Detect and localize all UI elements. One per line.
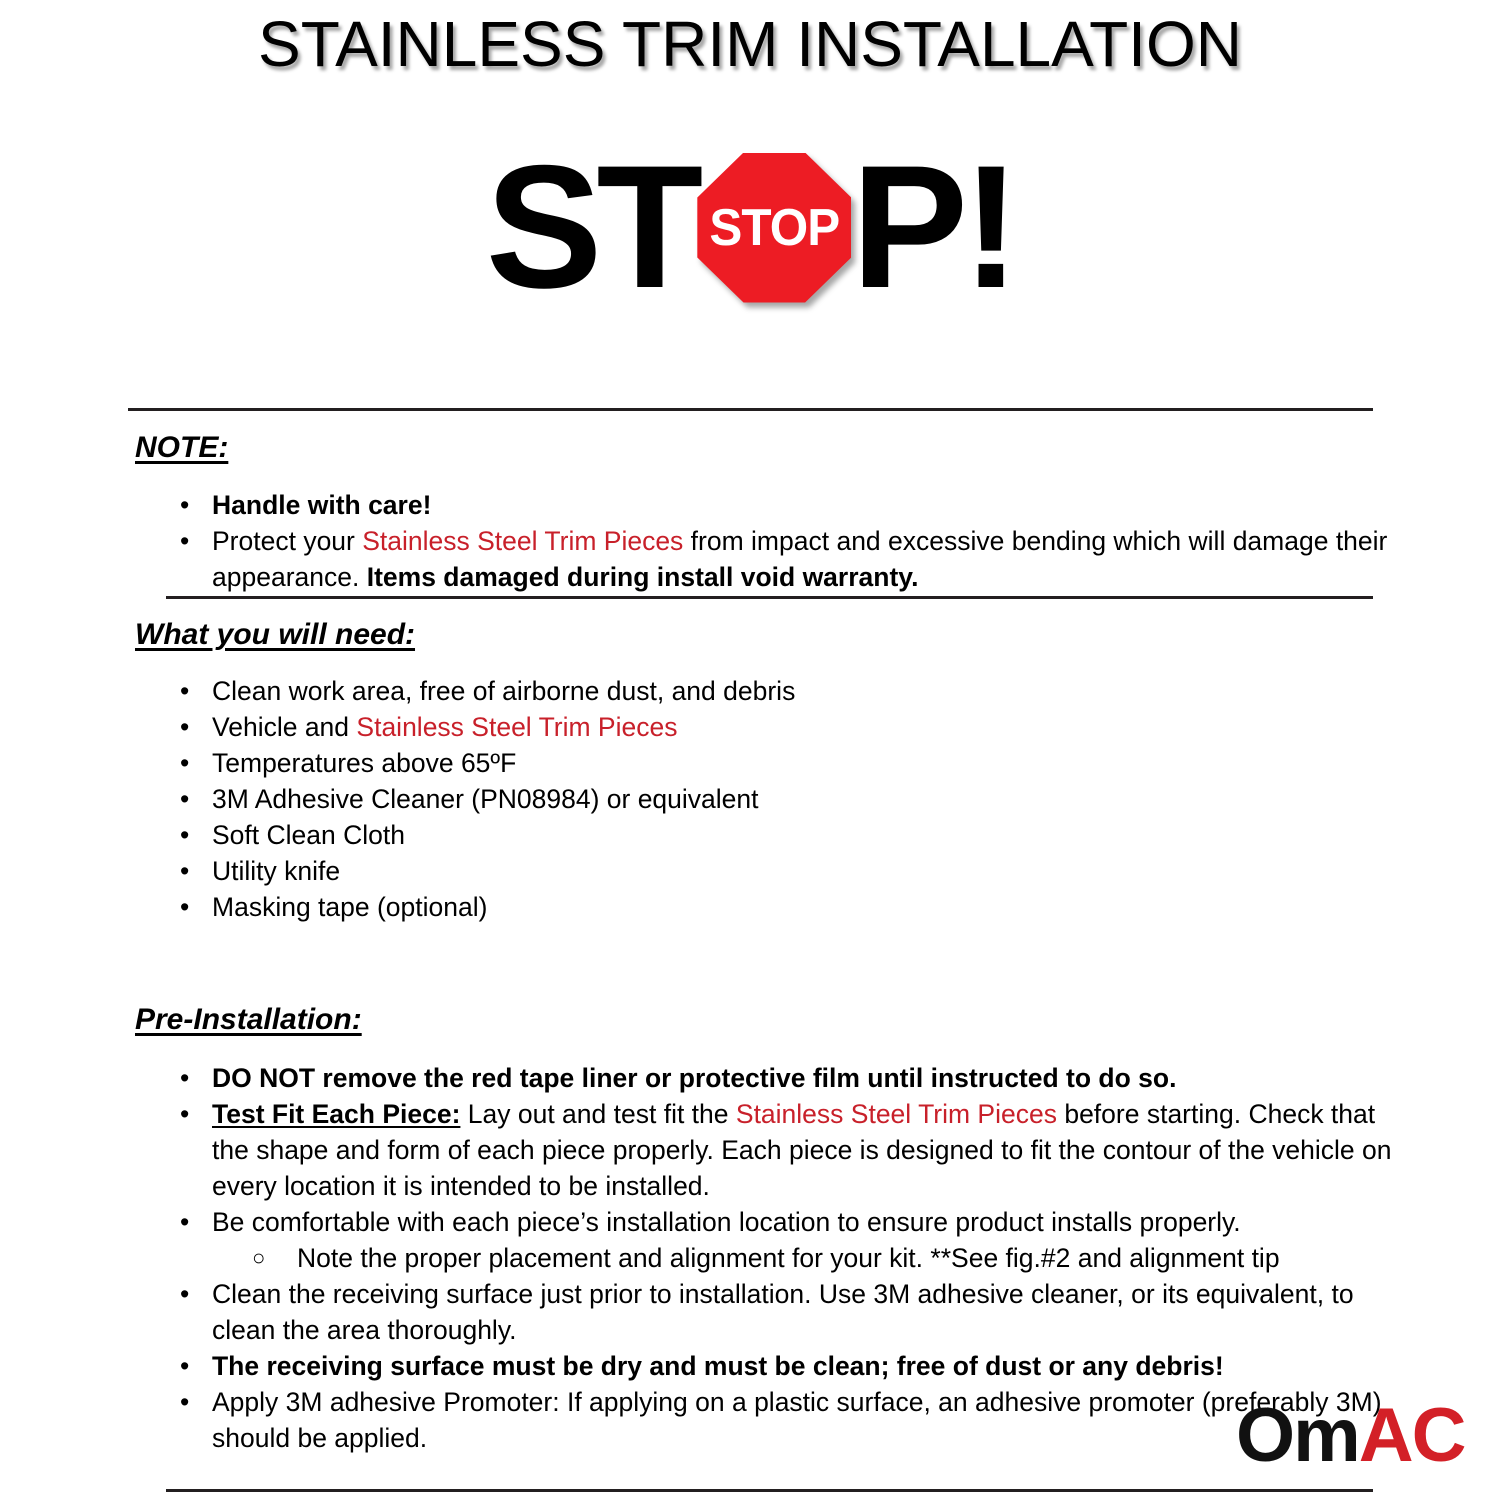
list-item-text: DO NOT remove the red tape liner or prot… <box>212 1063 1176 1093</box>
bullet-icon: • <box>180 853 189 889</box>
list-item-text: Vehicle and Stainless Steel Trim Pieces <box>212 712 677 742</box>
body-text: Masking tape (optional) <box>212 892 487 922</box>
body-text: Clean work area, free of airborne dust, … <box>212 676 795 706</box>
list-item: •Apply 3M adhesive Promoter: If applying… <box>0 1384 1400 1456</box>
list-item: •Handle with care! <box>0 487 1400 523</box>
bullet-icon: • <box>180 709 189 745</box>
bullet-icon: • <box>180 745 189 781</box>
stop-logo-left-letters: ST <box>486 148 698 308</box>
list-item-text: Apply 3M adhesive Promoter: If applying … <box>212 1387 1382 1453</box>
list-item: •Vehicle and Stainless Steel Trim Pieces <box>0 709 1400 745</box>
list-item: •Clean work area, free of airborne dust,… <box>0 673 1400 709</box>
body-text: Soft Clean Cloth <box>212 820 405 850</box>
pre-installation-list: •DO NOT remove the red tape liner or pro… <box>0 1060 1400 1456</box>
list-item: •3M Adhesive Cleaner (PN08984) or equiva… <box>0 781 1400 817</box>
list-item: •Be comfortable with each piece’s instal… <box>0 1204 1400 1240</box>
bullet-icon: • <box>180 673 189 709</box>
list-item-text: Utility knife <box>212 856 340 886</box>
list-item-text: Clean work area, free of airborne dust, … <box>212 676 795 706</box>
stop-sign-icon: STOP <box>691 148 857 308</box>
section-heading-pre-installation: Pre-Installation: <box>135 1003 362 1037</box>
list-item-text: Temperatures above 65ºF <box>212 748 516 778</box>
stop-banner: ST STOP P! <box>0 130 1500 325</box>
list-item-text: Be comfortable with each piece’s install… <box>212 1207 1241 1237</box>
list-item: •Masking tape (optional) <box>0 889 1400 925</box>
hollow-bullet-icon: ○ <box>252 1240 265 1276</box>
octagon-shape: STOP <box>697 153 851 303</box>
list-item-text: The receiving surface must be dry and mu… <box>212 1351 1224 1381</box>
list-item: •Test Fit Each Piece: Lay out and test f… <box>0 1096 1400 1204</box>
bullet-icon: • <box>180 1384 189 1420</box>
bullet-icon: • <box>180 1204 189 1240</box>
list-item-text: Handle with care! <box>212 490 431 520</box>
bullet-icon: • <box>180 1096 189 1132</box>
list-item-text: Soft Clean Cloth <box>212 820 405 850</box>
divider-bottom <box>166 1489 1373 1492</box>
stop-logo: ST STOP P! <box>486 140 1015 315</box>
body-text: Vehicle and <box>212 712 356 742</box>
stop-sign-label: STOP <box>709 202 839 254</box>
list-item-text: Clean the receiving surface just prior t… <box>212 1279 1354 1345</box>
omac-logo-dark-part: Om <box>1236 1393 1359 1478</box>
section-heading-what-you-will-need: What you will need: <box>135 618 415 652</box>
stop-logo-right-letters: P! <box>851 148 1014 308</box>
list-item: •Soft Clean Cloth <box>0 817 1400 853</box>
body-text: Lay out and test fit the <box>460 1099 735 1129</box>
emphasis-text: Handle with care! <box>212 490 431 520</box>
divider-middle <box>166 596 1373 599</box>
requirements-list: •Clean work area, free of airborne dust,… <box>0 673 1400 925</box>
emphasis-text: DO NOT remove the red tape liner or prot… <box>212 1063 1176 1093</box>
list-item: •Temperatures above 65ºF <box>0 745 1400 781</box>
list-item: •DO NOT remove the red tape liner or pro… <box>0 1060 1400 1096</box>
bullet-icon: • <box>180 817 189 853</box>
list-item-text: Protect your Stainless Steel Trim Pieces… <box>212 526 1387 592</box>
note-list: •Handle with care!•Protect your Stainles… <box>0 487 1400 595</box>
bullet-icon: • <box>180 487 189 523</box>
body-text: 3M Adhesive Cleaner (PN08984) or equival… <box>212 784 759 814</box>
body-text: Apply 3M adhesive Promoter: If applying … <box>212 1387 1382 1453</box>
body-text: Note the proper placement and alignment … <box>297 1243 1280 1273</box>
list-item-text: Masking tape (optional) <box>212 892 487 922</box>
list-item: ○Note the proper placement and alignment… <box>0 1240 1400 1276</box>
emphasis-text: Items damaged during install void warran… <box>367 562 919 592</box>
page-title: STAINLESS TRIM INSTALLATION <box>0 0 1500 76</box>
bullet-icon: • <box>180 1060 189 1096</box>
bullet-icon: • <box>180 1348 189 1384</box>
body-text: Utility knife <box>212 856 340 886</box>
list-item-text: Test Fit Each Piece: Lay out and test fi… <box>212 1099 1392 1201</box>
emphasis-text: The receiving surface must be dry and mu… <box>212 1351 1224 1381</box>
omac-brand-logo: OmAC <box>1236 1398 1464 1474</box>
body-text: Protect your <box>212 526 362 556</box>
list-item-text: Note the proper placement and alignment … <box>297 1243 1280 1273</box>
highlighted-term: Stainless Steel Trim Pieces <box>736 1099 1057 1129</box>
emphasis-text: Test Fit Each Piece: <box>212 1099 460 1129</box>
section-heading-note: NOTE: <box>135 431 228 465</box>
highlighted-term: Stainless Steel Trim Pieces <box>362 526 683 556</box>
list-item-text: 3M Adhesive Cleaner (PN08984) or equival… <box>212 784 759 814</box>
bullet-icon: • <box>180 1276 189 1312</box>
bullet-icon: • <box>180 781 189 817</box>
list-item: •The receiving surface must be dry and m… <box>0 1348 1400 1384</box>
divider-top <box>128 408 1373 411</box>
bullet-icon: • <box>180 523 189 559</box>
bullet-icon: • <box>180 889 189 925</box>
list-item: •Clean the receiving surface just prior … <box>0 1276 1400 1348</box>
omac-logo-accent-part: AC <box>1359 1393 1465 1478</box>
body-text: Temperatures above 65ºF <box>212 748 516 778</box>
body-text: Clean the receiving surface just prior t… <box>212 1279 1354 1345</box>
list-item: •Utility knife <box>0 853 1400 889</box>
list-item: •Protect your Stainless Steel Trim Piece… <box>0 523 1400 595</box>
highlighted-term: Stainless Steel Trim Pieces <box>356 712 677 742</box>
body-text: Be comfortable with each piece’s install… <box>212 1207 1241 1237</box>
